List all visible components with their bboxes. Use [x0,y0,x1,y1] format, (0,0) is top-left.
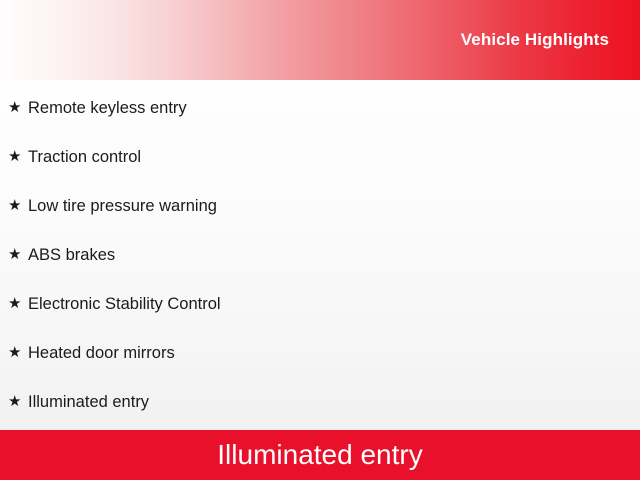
list-item-label: Remote keyless entry [28,96,187,120]
star-bullet-icon: ★ [8,390,28,414]
vehicle-highlights-page: Vehicle Highlights ★ Remote keyless entr… [0,0,640,480]
list-item: ★ Illuminated entry [0,390,640,414]
list-item: ★ Remote keyless entry [0,96,640,120]
list-item-label: Heated door mirrors [28,341,175,365]
list-item-label: Electronic Stability Control [28,292,221,316]
list-item-label: ABS brakes [28,243,115,267]
star-bullet-icon: ★ [8,243,28,267]
star-bullet-icon: ★ [8,341,28,365]
bottom-caption-banner: Illuminated entry [0,430,640,480]
highlights-list: ★ Remote keyless entry ★ Traction contro… [0,80,640,430]
list-item: ★ ABS brakes [0,243,640,267]
header-banner: Vehicle Highlights [0,0,640,80]
list-item-label: Low tire pressure warning [28,194,217,218]
star-bullet-icon: ★ [8,292,28,316]
star-bullet-icon: ★ [8,96,28,120]
bottom-caption-text: Illuminated entry [217,439,422,471]
list-item: ★ Heated door mirrors [0,341,640,365]
list-item-label: Illuminated entry [28,390,149,414]
page-title: Vehicle Highlights [461,30,609,50]
list-item-label: Traction control [28,145,141,169]
list-item: ★ Low tire pressure warning [0,194,640,218]
list-item: ★ Traction control [0,145,640,169]
star-bullet-icon: ★ [8,194,28,218]
list-item: ★ Electronic Stability Control [0,292,640,316]
star-bullet-icon: ★ [8,145,28,169]
